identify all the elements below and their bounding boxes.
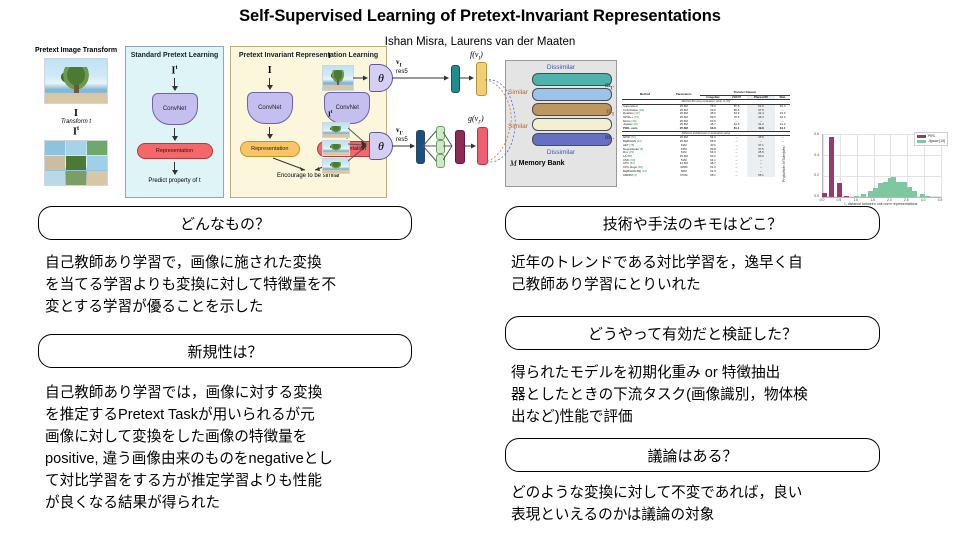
legend-item-jigsaw: Jigsaw [19] (917, 139, 945, 144)
figure-strip: Pretext Image Transform I Transform t It… (0, 44, 960, 199)
panel-c-representation-left: Representation (240, 141, 300, 157)
histogram-bar (829, 137, 834, 197)
memory-bank-pill-1 (532, 73, 612, 86)
panel-b-representation: Representation (137, 143, 213, 159)
label-image-It: It (34, 126, 118, 137)
page-title: Self-Supervised Learning of Pretext-Inva… (0, 7, 960, 26)
panel-d-input-top-label: I (328, 52, 331, 60)
histogram-gridline-v (823, 135, 824, 197)
original-image-thumbnail (44, 58, 108, 104)
th-method: Method (622, 91, 668, 100)
memory-bank-label-1: mI' (605, 81, 614, 91)
legend-swatch-pirl (917, 135, 926, 138)
panel-d-g-label: g(vI') (468, 114, 484, 126)
memory-bank-title: Memory Bank (519, 160, 565, 167)
panel-d-arrow-top-out (459, 74, 475, 82)
panel-d-arrows-patches-to-encoder (348, 122, 369, 168)
histogram-gridline-h (823, 155, 941, 156)
panel-d-input-top-thumb (322, 65, 354, 91)
histogram-bar (925, 196, 930, 197)
section-heading-what-label: どんなもの？ (180, 213, 270, 234)
table-row: AMDIM [4]670M68.1--55.1-- (622, 174, 790, 178)
panel-d-arrow-bottom-out (463, 142, 477, 150)
panel-d-input-bottom-patches (322, 122, 348, 174)
panel-d-f-label: f(vI) (470, 50, 483, 62)
figure-panel-standard-pretext: Standard Pretext Learning It ConvNet Rep… (125, 46, 224, 198)
panel-d-arrow-top-in (353, 74, 369, 82)
panel-b-input-label: It (126, 65, 223, 76)
section-heading-novelty[interactable]: 新規性は？ (38, 334, 412, 368)
histogram-bar (911, 191, 916, 197)
transform-arrow-label: Transform t (34, 119, 118, 125)
histogram-ytick-label: 0.4 (814, 153, 819, 157)
section-heading-key-technique-label: 技術や手法のキモはどこ？ (603, 213, 783, 234)
memory-bank-panel: Dissimilar Dissimilar M Memory Bank Simi… (505, 60, 617, 187)
memory-bank-label-2: mI (606, 107, 614, 117)
results-table-head: Method Parameters Transfer Dataset Image… (622, 91, 790, 100)
histogram-bar (861, 194, 866, 197)
cell-method: AMDIM [4] (622, 174, 668, 178)
histogram-ytick-label: 0.2 (814, 173, 819, 177)
legend-swatch-jigsaw (917, 140, 926, 143)
panel-d-similarity-curves (483, 72, 517, 172)
panel-a-caption: Pretext Image Transform (34, 46, 118, 55)
memory-bank-pill-3 (532, 103, 612, 116)
histogram-ylabel: Proportion of Samples (782, 146, 786, 182)
results-table-body: ResNet-50 using evaluation setup of [19]… (622, 100, 790, 177)
section-heading-novelty-label: 新規性は？ (187, 341, 262, 362)
slide-page: Self-Supervised Learning of Pretext-Inva… (0, 0, 960, 540)
histogram-bar (854, 196, 859, 197)
panel-d-encoder-bottom: θ (369, 132, 393, 160)
histogram-gridline-v (857, 135, 858, 197)
histogram-bar (837, 183, 842, 197)
section-body-discussion: どのような変換に対して不変であれば，良い 表現といえるのかは議論の対象 (511, 482, 901, 526)
histogram-bar (844, 196, 849, 197)
label-image-I: I (34, 108, 118, 119)
panel-b-title: Standard Pretext Learning (126, 47, 223, 60)
memory-bank-pill-2 (532, 88, 612, 101)
section-heading-what[interactable]: どんなもの？ (38, 206, 412, 240)
panel-c-input-left: I (239, 65, 301, 76)
histogram-legend: PIRL Jigsaw [19] (914, 132, 948, 146)
memory-bank-pill-4 (532, 118, 612, 131)
memory-bank-dissimilar-top: Dissimilar (506, 64, 616, 71)
panel-d-arrow-top-mid (392, 74, 450, 82)
section-body-what: 自己教師あり学習で，画像に施された変換 を当てる学習よりも変換に対して特徴量を不… (45, 252, 425, 318)
figure-panel-pretext-transform: Pretext Image Transform I Transform t It (34, 46, 118, 196)
th-parameters: Parameters (668, 91, 700, 100)
section-body-validation: 得られたモデルを初期化重み or 特徴抽出 器としたときの下流タスク(画像識別，… (511, 362, 901, 428)
section-body-novelty: 自己教師あり学習では，画像に対する変換 を推定するPretext Taskが用い… (45, 382, 430, 514)
panel-d-arrow-bottom-1 (392, 142, 416, 150)
results-table: Method Parameters Transfer Dataset Image… (622, 91, 790, 177)
section-heading-validation-label: どうやって有効だと検証した？ (588, 323, 797, 344)
panel-b-convnet: ConvNet (152, 93, 198, 125)
memory-bank-pill-5 (532, 133, 612, 146)
section-heading-discussion[interactable]: 議論はある？ (505, 438, 880, 472)
histogram-ytick-label: 0.6 (814, 132, 819, 136)
panel-d-patch-fanin (443, 124, 455, 170)
transformed-image-tiles (44, 140, 108, 186)
panel-d-v-top-label: vI (396, 58, 401, 68)
panel-d-v-bottom-label: vI' (396, 126, 403, 136)
histogram-bar (822, 193, 827, 197)
section-heading-key-technique[interactable]: 技術や手法のキモはどこ？ (505, 206, 880, 240)
memory-bank-label-3: mI' (605, 133, 614, 143)
section-heading-discussion-label: 議論はある？ (647, 445, 737, 466)
panel-b-footer: Predict property of t (126, 178, 223, 184)
panel-d-input-bottom-label: It (328, 110, 332, 118)
memory-bank-dissimilar-bottom: Dissimilar (506, 149, 616, 156)
legend-label-jigsaw: Jigsaw [19] (928, 139, 945, 144)
panel-c-convnet-left: ConvNet (247, 92, 293, 124)
histogram-gridline-h (823, 176, 941, 177)
figure-panel-pirl-architecture: I θ vI res5 f(vI) It (320, 52, 620, 197)
panel-d-encoder-top: θ (369, 64, 393, 92)
section-body-key-technique: 近年のトレンドである対比学習を，逸早く自 己教師あり学習にとりいれた (511, 252, 896, 296)
section-heading-validation[interactable]: どうやって有効だと検証した？ (505, 316, 880, 350)
